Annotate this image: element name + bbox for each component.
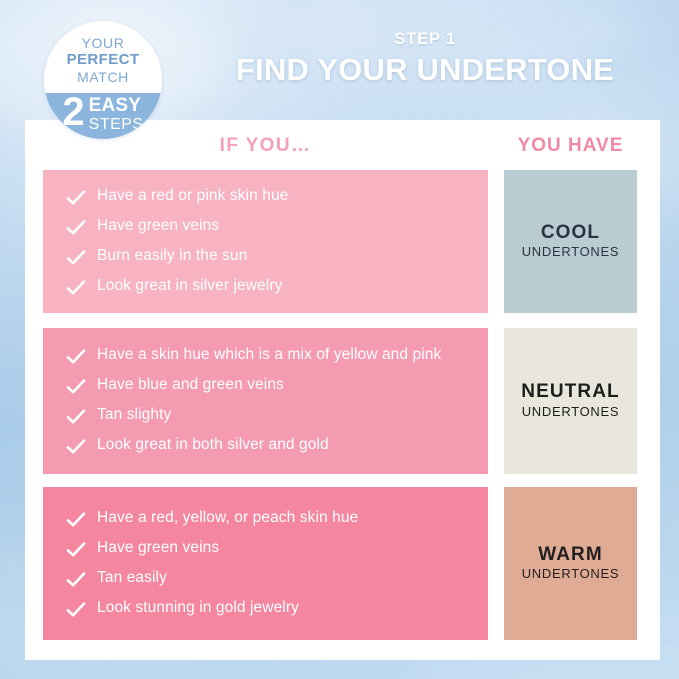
list-item: Have green veins [65, 538, 472, 560]
badge-bottom-half: 2 EASY STEPS [44, 93, 162, 139]
checkmark-icon [65, 188, 87, 208]
swatch-subtitle: UNDERTONES [522, 566, 620, 583]
trait-text: Have blue and green veins [97, 375, 284, 396]
badge-your-label: YOUR [82, 35, 125, 51]
list-item: Look great in both silver and gold [65, 435, 472, 457]
checkmark-icon [65, 218, 87, 238]
content-card: IF YOU… YOU HAVE Have a red or pink skin… [25, 120, 660, 660]
list-item: Burn easily in the sun [65, 246, 472, 268]
list-item: Have green veins [65, 216, 472, 238]
swatch-subtitle: UNDERTONES [522, 244, 620, 261]
badge-top-half: YOUR PERFECT MATCH [44, 21, 162, 93]
swatch-title: COOL [541, 222, 600, 244]
checkmark-icon [65, 600, 87, 620]
page-title: FIND YOUR UNDERTONE [185, 53, 665, 87]
undertone-swatch-cool: COOL UNDERTONES [504, 170, 637, 313]
trait-text: Tan slighty [97, 405, 171, 426]
trait-text: Have a skin hue which is a mix of yellow… [97, 345, 441, 366]
checkmark-icon [65, 248, 87, 268]
swatch-subtitle: UNDERTONES [522, 404, 620, 421]
trait-text: Have a red, yellow, or peach skin hue [97, 508, 358, 529]
trait-text: Tan easily [97, 568, 167, 589]
list-item: Have a red or pink skin hue [65, 186, 472, 208]
list-item: Have a skin hue which is a mix of yellow… [65, 345, 472, 367]
badge-step-count: 2 [62, 94, 83, 131]
table-row: Have a skin hue which is a mix of yellow… [43, 328, 655, 474]
trait-text: Burn easily in the sun [97, 246, 247, 267]
list-item: Look stunning in gold jewelry [65, 598, 472, 620]
swatch-title: NEUTRAL [521, 381, 619, 403]
trait-text: Have green veins [97, 538, 219, 559]
perfect-match-badge: YOUR PERFECT MATCH 2 EASY STEPS [44, 21, 162, 139]
badge-steps-wrap: EASY STEPS [89, 94, 144, 133]
checkmark-icon [65, 377, 87, 397]
list-item: Have blue and green veins [65, 375, 472, 397]
badge-steps-label: STEPS [89, 117, 144, 133]
checkmark-icon [65, 570, 87, 590]
checkmark-icon [65, 540, 87, 560]
list-item: Tan easily [65, 568, 472, 590]
traits-panel-cool: Have a red or pink skin hue Have green v… [43, 170, 488, 313]
trait-text: Have green veins [97, 216, 219, 237]
header: STEP 1 FIND YOUR UNDERTONE [185, 30, 665, 87]
traits-panel-warm: Have a red, yellow, or peach skin hue Ha… [43, 487, 488, 640]
traits-panel-neutral: Have a skin hue which is a mix of yellow… [43, 328, 488, 474]
trait-text: Look great in both silver and gold [97, 435, 329, 456]
checkmark-icon [65, 347, 87, 367]
table-row: Have a red or pink skin hue Have green v… [43, 170, 655, 313]
badge-easy-label: EASY [89, 97, 142, 116]
list-item: Tan slighty [65, 405, 472, 427]
checkmark-icon [65, 510, 87, 530]
checkmark-icon [65, 437, 87, 457]
table-row: Have a red, yellow, or peach skin hue Ha… [43, 487, 655, 640]
trait-text: Look stunning in gold jewelry [97, 598, 299, 619]
checkmark-icon [65, 278, 87, 298]
checkmark-icon [65, 407, 87, 427]
badge-match-label: MATCH [77, 69, 129, 85]
trait-text: Look great in silver jewelry [97, 276, 282, 297]
trait-text: Have a red or pink skin hue [97, 186, 288, 207]
undertone-swatch-neutral: NEUTRAL UNDERTONES [504, 328, 637, 474]
undertone-swatch-warm: WARM UNDERTONES [504, 487, 637, 640]
infographic-root: STEP 1 FIND YOUR UNDERTONE YOUR PERFECT … [0, 0, 679, 679]
list-item: Look great in silver jewelry [65, 276, 472, 298]
swatch-title: WARM [538, 544, 603, 566]
undertone-rows: Have a red or pink skin hue Have green v… [25, 120, 660, 660]
list-item: Have a red, yellow, or peach skin hue [65, 508, 472, 530]
step-label: STEP 1 [185, 30, 665, 49]
badge-perfect-label: PERFECT [67, 51, 140, 68]
